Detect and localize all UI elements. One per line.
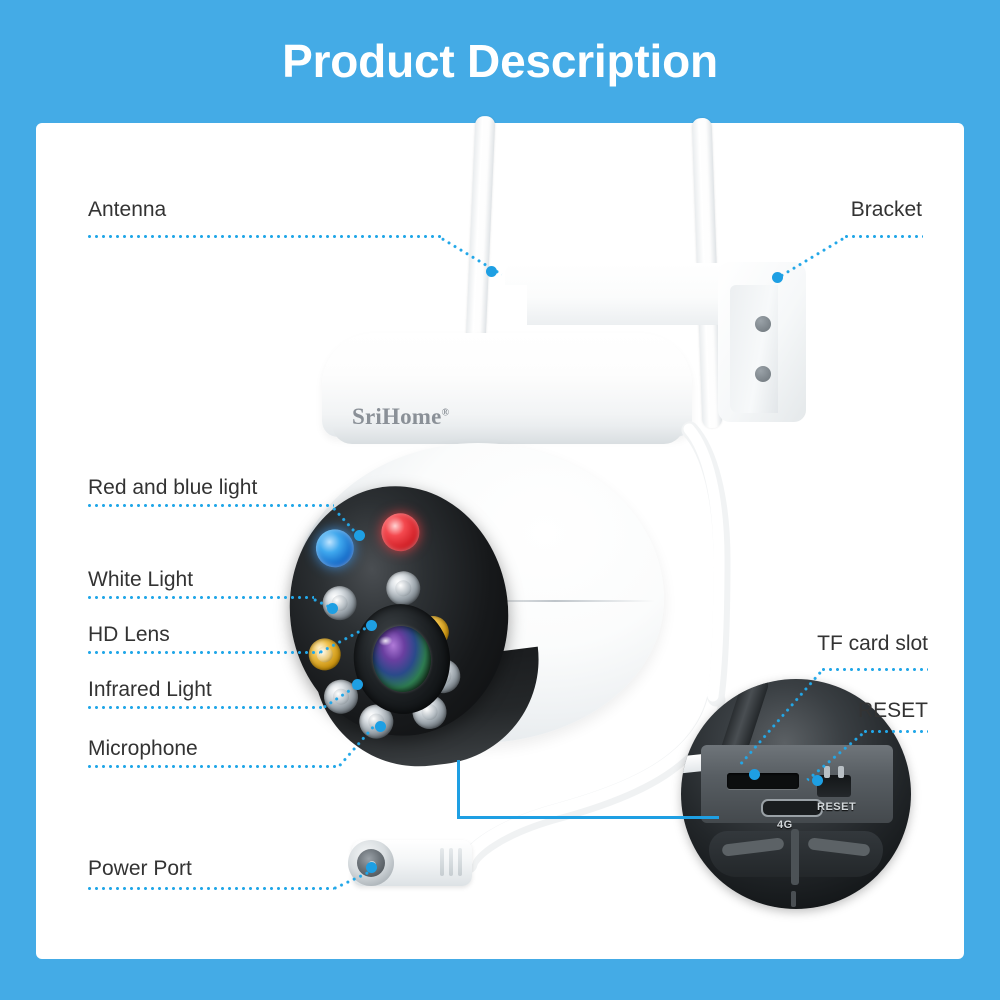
inset-sim-label: 4G [777,819,793,831]
product-description-page: Product Description SriHome® [0,0,1000,1000]
callout-label-hd-lens: HD Lens [88,624,170,645]
tf-card-slot-graphic [727,773,799,789]
leader-line-reset [862,730,928,733]
inset-connector-line-vertical [457,760,460,818]
inset-connector-line-horizontal [457,816,719,819]
callout-label-white-light: White Light [88,569,193,590]
leader-line-red-and-blue-light [86,504,334,507]
leader-endpoint-antenna [486,266,497,277]
callout-label-microphone: Microphone [88,738,198,759]
leader-line-infrared-light [86,706,324,709]
callout-label-reset: RESET [700,700,928,721]
leader-line-bracket [843,235,923,238]
sim-card-slot-graphic [761,799,823,817]
leader-endpoint-bracket [772,272,783,283]
leader-endpoint-microphone [375,721,386,732]
leader-endpoint-red-and-blue-light [354,530,365,541]
callout-label-red-and-blue-light: Red and blue light [88,477,257,498]
leader-line-microphone [86,765,340,768]
leader-endpoint-power-port [366,862,377,873]
callout-label-tf-card-slot: TF card slot [700,633,928,654]
connector-grip-1 [440,848,444,876]
connector-grip-2 [449,848,453,876]
leader-endpoint-infrared-light [352,679,363,690]
callout-label-antenna: Antenna [88,199,166,220]
leader-line-hd-lens [86,651,320,654]
callout-label-bracket: Bracket [700,199,922,220]
leader-endpoint-hd-lens [366,620,377,631]
leader-endpoint-reset [812,775,823,786]
leader-endpoint-white-light [327,603,338,614]
leader-line-tf-card-slot [820,668,928,671]
leader-line-white-light [86,596,314,599]
connector-grip-3 [458,848,462,876]
inset-bottom-nub [791,891,796,907]
inset-center-bar [791,829,799,885]
leader-line-antenna [86,235,442,238]
leader-line-power-port [86,887,334,890]
callout-label-power-port: Power Port [88,858,192,879]
inset-reset-label: RESET [817,801,856,813]
leader-endpoint-tf-card-slot [749,769,760,780]
callout-label-infrared-light: Infrared Light [88,679,212,700]
